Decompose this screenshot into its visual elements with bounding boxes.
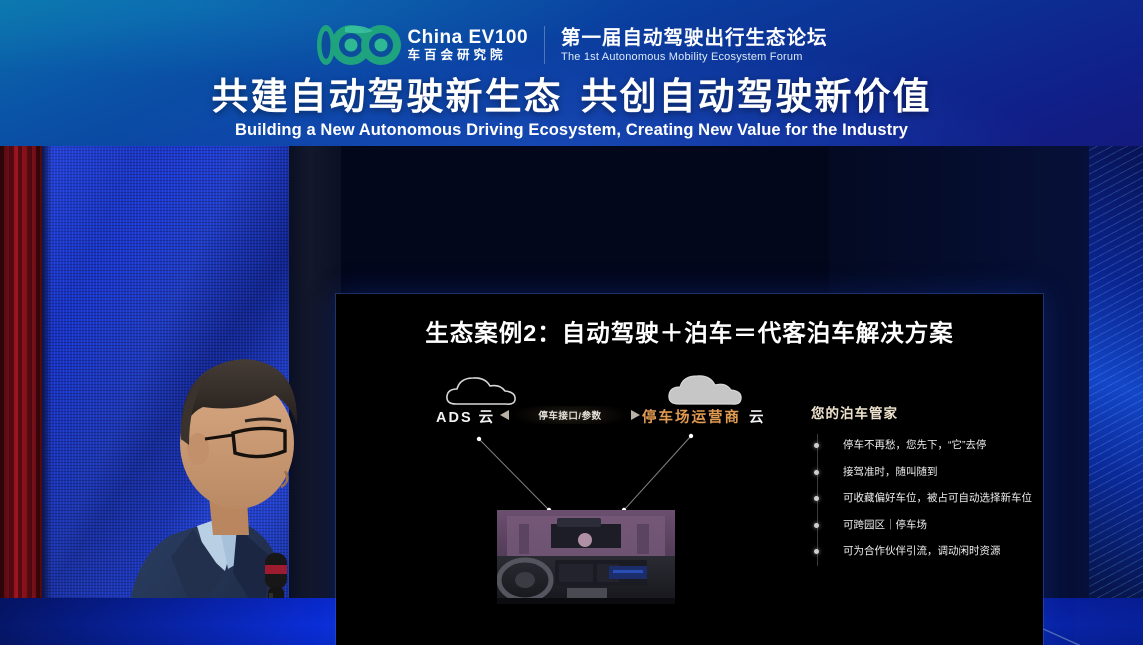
benefits-panel: 您的泊车管家 停车不再愁，您先下，“它”去停 接驾准时，随叫随到 可收藏偏好车位… [811, 402, 1036, 571]
link-glow [506, 406, 634, 424]
china-ev100-logo-icon [315, 23, 401, 67]
presentation-screen: 生态案例2：自动驾驶＋泊车＝代客泊车解决方案 ADS 云 停车场运营商云 [336, 294, 1043, 645]
stage-room: 李文广 生态案例2：自动驾驶＋泊车 [0, 146, 1143, 645]
forum-title-en: The 1st Autonomous Mobility Ecosystem Fo… [561, 50, 828, 64]
speaker-figure [85, 321, 325, 645]
main-title-cn: 共建自动驾驶新生态共创自动驾驶新价值 [0, 76, 1143, 118]
list-item: 可为合作伙伴引流，调动闲时资源 [811, 544, 1036, 558]
tech-pattern-lines [1089, 146, 1143, 606]
logo-brand-cn: 车百会研究院 [407, 48, 528, 63]
main-title-cn-part1: 共建自动驾驶新生态 [212, 76, 563, 117]
main-title-en: Building a New Autonomous Driving Ecosys… [0, 119, 1143, 141]
list-item: 接驾准时，随叫随到 [811, 465, 1036, 479]
ads-cloud-label: ADS 云 [436, 406, 495, 427]
operator-cloud-word: 云 [749, 410, 766, 426]
curtain-edge-shadow [42, 146, 52, 601]
banner-logo-row: China EV100 车百会研究院 第一届自动驾驶出行生态论坛 The 1st… [0, 20, 1143, 70]
list-item-label: 接驾准时，随叫随到 [843, 466, 938, 478]
logo-wordmark: China EV100 车百会研究院 [407, 27, 528, 63]
logo-brand-en: China EV100 [407, 27, 528, 48]
benefits-list: 停车不再愁，您先下，“它”去停 接驾准时，随叫随到 可收藏偏好车位，被占可自动选… [811, 438, 1036, 558]
cloud-interface-link: 停车接口/参数 [500, 406, 640, 424]
logo-divider [544, 26, 545, 64]
bullet-dot-icon [814, 443, 819, 448]
broadcast-frame: China EV100 车百会研究院 第一届自动驾驶出行生态论坛 The 1st… [0, 0, 1143, 645]
main-title-block: 共建自动驾驶新生态共创自动驾驶新价值 Building a New Autono… [0, 76, 1143, 141]
benefits-panel-heading: 您的泊车管家 [811, 402, 1036, 422]
operator-label-text: 停车场运营商 [642, 410, 741, 426]
list-item-label: 停车不再愁，您先下，“它”去停 [843, 439, 987, 451]
list-item-label: 可收藏偏好车位，被占可自动选择新车位 [843, 492, 1032, 504]
operator-cloud-label: 停车场运营商云 [642, 406, 766, 427]
bullet-dot-icon [814, 470, 819, 475]
arrow-left-icon [500, 410, 509, 420]
bullet-dot-icon [814, 549, 819, 554]
tech-pattern-panel [1089, 146, 1143, 606]
main-title-cn-part2: 共创自动驾驶新价值 [581, 76, 932, 117]
arrow-right-icon [631, 410, 640, 420]
list-item: 可收藏偏好车位，被占可自动选择新车位 [811, 491, 1036, 505]
red-curtain-shading [0, 146, 42, 601]
list-item: 可跨园区｜停车场 [811, 518, 1036, 532]
slide-title: 生态案例2：自动驾驶＋泊车＝代客泊车解决方案 [336, 314, 1043, 348]
list-item: 停车不再愁，您先下，“它”去停 [811, 438, 1036, 452]
event-banner: China EV100 车百会研究院 第一届自动驾驶出行生态论坛 The 1st… [0, 0, 1143, 146]
list-item-label: 可为合作伙伴引流，调动闲时资源 [843, 545, 1001, 557]
forum-title-cn: 第一届自动驾驶出行生态论坛 [561, 27, 828, 50]
car-cockpit-photo [497, 510, 675, 604]
bullet-dot-icon [814, 496, 819, 501]
list-item-label: 可跨园区｜停车场 [843, 519, 927, 531]
bullet-dot-icon [814, 523, 819, 528]
forum-title-block: 第一届自动驾驶出行生态论坛 The 1st Autonomous Mobilit… [561, 27, 828, 64]
